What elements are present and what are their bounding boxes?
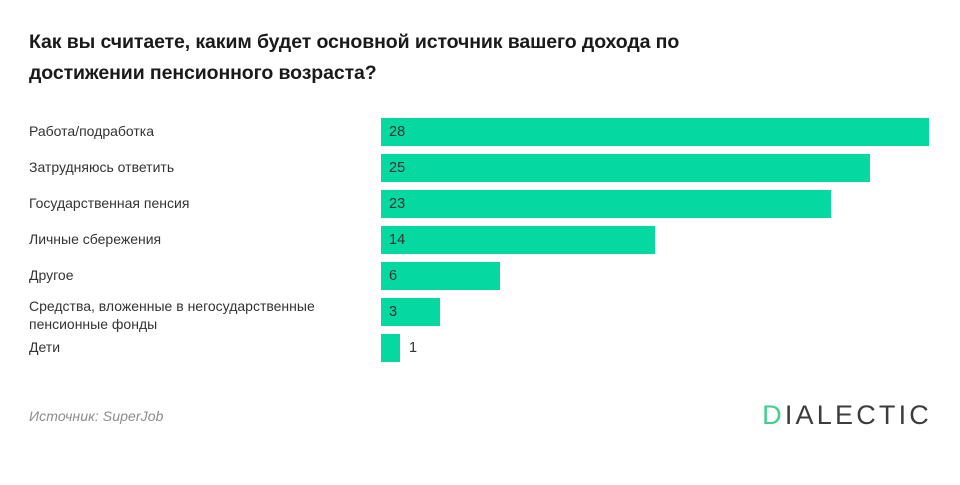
category-label: Государственная пенсия	[29, 190, 374, 218]
table-row: Другое 6	[0, 262, 960, 298]
bar-value-label: 6	[389, 262, 397, 290]
category-label: Средства, вложенные в негосударственные …	[29, 298, 374, 326]
source-note: Источник: SuperJob	[29, 408, 164, 424]
table-row: Государственная пенсия 23	[0, 190, 960, 226]
bar-chart-plot-area: Работа/подработка 28 Затрудняюсь ответит…	[0, 118, 960, 380]
bar-value-label: 25	[389, 154, 405, 182]
category-label-line: Работа/подработка	[29, 123, 154, 141]
title-line-1: Как вы считаете, каким будет основной ис…	[29, 31, 679, 53]
bar-value-label: 14	[389, 226, 405, 254]
table-row: Работа/подработка 28	[0, 118, 960, 154]
bar-segment	[381, 334, 400, 362]
category-label-line: Средства, вложенные в	[29, 298, 184, 314]
bar-value-label: 23	[389, 190, 405, 218]
bar-value-label: 1	[409, 334, 417, 362]
page-title: Как вы считаете, каким будет основной ис…	[29, 27, 829, 89]
category-label-line: Личные сбережения	[29, 231, 161, 249]
bar-segment	[381, 154, 870, 182]
bar-value-label: 3	[389, 298, 397, 326]
category-label-line: Государственная пенсия	[29, 195, 189, 213]
category-label-line: Затрудняюсь ответить	[29, 159, 174, 177]
category-label: Другое	[29, 262, 374, 290]
category-label: Работа/подработка	[29, 118, 374, 146]
bar-segment	[381, 226, 655, 254]
bar-segment	[381, 118, 929, 146]
category-label: Дети	[29, 334, 374, 362]
bar-value-label: 28	[389, 118, 405, 146]
table-row: Затрудняюсь ответить 25	[0, 154, 960, 190]
bar-segment	[381, 262, 500, 290]
brand-logo-text: IALECTIC	[785, 400, 932, 430]
table-row: Средства, вложенные в негосударственные …	[0, 298, 960, 334]
category-label: Личные сбережения	[29, 226, 374, 254]
chart-page: Как вы считаете, каким будет основной ис…	[0, 0, 960, 485]
brand-logo: DIALECTIC	[762, 400, 932, 431]
brand-logo-initial: D	[762, 400, 785, 430]
table-row: Личные сбережения 14	[0, 226, 960, 262]
bar-segment	[381, 190, 831, 218]
category-label-line: Другое	[29, 267, 73, 285]
table-row: Дети 1	[0, 334, 960, 370]
category-label: Затрудняюсь ответить	[29, 154, 374, 182]
category-label-line: Дети	[29, 339, 60, 357]
title-line-2: достижении пенсионного возраста?	[29, 62, 377, 84]
